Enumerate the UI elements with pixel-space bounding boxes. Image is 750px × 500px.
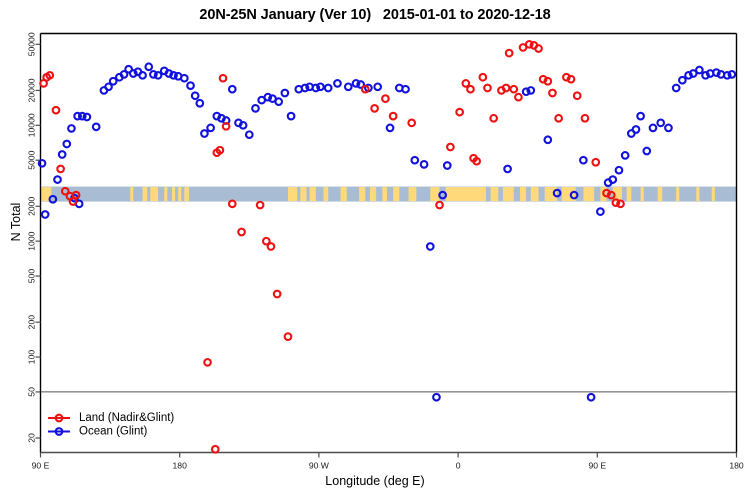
data-point [387,125,394,132]
data-point [408,120,415,127]
x-tick-label: 90 E [588,461,606,471]
data-point [192,92,199,99]
legend-entry-label: Ocean (Glint) [79,426,148,438]
data-point [549,90,556,97]
data-point [616,167,623,174]
y-tick-label: 2000 [27,197,37,216]
data-point [197,100,204,107]
x-tick-label: 180 [729,461,744,471]
data-point [57,166,64,173]
data-point [506,50,513,57]
data-point [275,98,282,105]
data-point [246,131,253,138]
data-point [207,125,214,132]
data-point [252,105,259,112]
data-point [382,95,389,102]
data-point [580,157,587,164]
legend-entry-label: Land (Nadir&Glint) [79,412,174,424]
data-point [54,176,61,183]
data-point [582,115,589,122]
data-point [679,77,686,84]
data-point [515,94,522,101]
y-tick-label: 1000 [27,231,37,250]
data-point [229,86,236,93]
data-point [63,141,70,148]
data-point [288,113,295,120]
data-point [59,151,66,158]
y-tick-label: 20000 [27,78,37,102]
data-point [617,201,624,208]
y-tick-label: 5000 [27,150,37,169]
data-point [334,80,341,87]
data-point [220,75,227,82]
data-point [597,208,604,215]
x-axis-title: Longitude (deg E) [0,474,750,488]
x-tick-label: 180 [173,461,188,471]
y-tick-label: 200 [27,315,37,330]
data-point [155,72,162,79]
series-ocean-points [39,63,735,400]
data-point [729,71,736,78]
data-point [650,125,657,132]
data-point [555,115,562,122]
data-point [282,90,289,97]
data-point [588,394,595,401]
data-point [574,92,581,99]
chart-legend: Land (Nadir&Glint)Ocean (Glint) [48,412,174,438]
data-point [503,85,510,92]
data-point [181,75,188,82]
data-point [204,359,211,366]
data-point [456,109,463,116]
data-point [42,211,49,218]
data-point [411,157,418,164]
y-tick-label: 100 [27,350,37,365]
data-point [257,202,264,209]
data-point [223,123,230,130]
data-point [212,446,219,453]
data-point [402,86,409,93]
scatter-plot-canvas: 90 E18090 W090 E180 20501002005001000200… [0,0,750,500]
data-point [622,152,629,159]
data-point [657,120,664,127]
data-point [637,113,644,120]
data-point [592,159,599,166]
y-tick-label: 50000 [27,32,37,56]
data-point [317,83,324,90]
y-tick-label: 10000 [27,113,37,137]
data-point [187,82,194,89]
x-axis-ticks: 90 E18090 W090 E180 [32,453,744,471]
data-point [484,85,491,92]
data-point [490,115,497,122]
data-point [421,161,428,168]
data-point [510,86,517,93]
x-tick-label: 90 E [32,461,50,471]
x-tick-label: 90 W [309,461,330,471]
data-point [325,85,332,92]
data-point [467,86,474,93]
data-point [238,229,245,236]
data-point [240,122,247,129]
data-point [643,148,650,155]
data-point [390,113,397,120]
data-point [285,333,292,340]
y-axis-ticks: 2050100200500100020005000100002000050000 [27,32,41,443]
data-point [444,162,451,169]
data-point [568,76,575,83]
data-point [268,243,275,250]
data-point [545,136,552,143]
data-point [673,85,680,92]
data-point [504,166,511,173]
y-tick-label: 50 [27,387,37,397]
data-point [145,63,152,70]
data-point [527,87,534,94]
data-point [68,125,75,132]
data-point [374,83,381,90]
data-point [545,78,552,85]
data-point [535,45,542,52]
y-axis-title: N Total [9,172,23,272]
series-land-points [40,41,624,453]
data-point [633,126,640,133]
chart-figure: 20N-25N January (Ver 10) 2015-01-01 to 2… [0,0,750,500]
data-point [39,160,46,167]
data-point [665,125,672,132]
data-point [139,72,146,79]
data-point [53,107,60,114]
data-point [436,202,443,209]
data-point [427,243,434,250]
data-point [480,74,487,81]
landsea-strip-group [41,187,737,202]
data-point [433,394,440,401]
x-tick-label: 0 [456,461,461,471]
data-point [371,105,378,112]
data-point [274,291,281,298]
data-point [447,144,454,151]
data-point [201,130,208,137]
y-tick-label: 20 [27,433,37,443]
y-tick-label: 500 [27,269,37,284]
data-point [609,176,616,183]
data-point [345,83,352,90]
data-point [93,124,100,131]
data-point [84,114,91,121]
data-point [229,201,236,208]
data-point [696,67,703,74]
